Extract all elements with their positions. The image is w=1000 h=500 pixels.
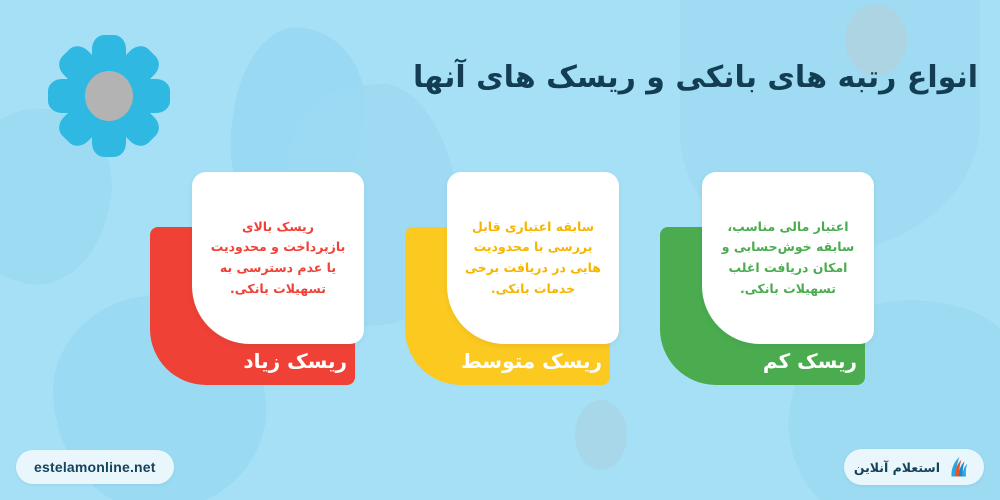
estelam-online-logo-icon <box>948 455 970 479</box>
risk-card-high: ریسک زیاد ریسک بالای بازپرداخت و محدودیت… <box>150 172 364 392</box>
risk-card-medium-body: سابقه اعتباری قابل بررسی با محدودیت هایی… <box>447 217 619 300</box>
flower-core <box>85 71 133 121</box>
brand-badge[interactable]: استعلام آنلاین <box>844 449 984 485</box>
risk-card-low-body: اعتبار مالی مناسب، سابقه خوش‌حسابی و امک… <box>702 217 874 300</box>
risk-cards-group: ریسک زیاد ریسک بالای بازپرداخت و محدودیت… <box>0 0 1000 500</box>
risk-card-medium-white-panel: سابقه اعتباری قابل بررسی با محدودیت هایی… <box>447 172 619 344</box>
risk-card-low: ریسک کم اعتبار مالی مناسب، سابقه خوش‌حسا… <box>660 172 874 392</box>
brand-badge-text: استعلام آنلاین <box>854 460 940 475</box>
risk-card-high-label: ریسک زیاد <box>157 349 347 373</box>
risk-card-medium-label: ریسک متوسط <box>412 349 602 373</box>
infographic-canvas: انواع رتبه های بانکی و ریسک های آنها ریس… <box>0 0 1000 500</box>
website-badge[interactable]: estelamonline.net <box>16 450 174 484</box>
risk-card-low-white-panel: اعتبار مالی مناسب، سابقه خوش‌حسابی و امک… <box>702 172 874 344</box>
risk-card-high-body: ریسک بالای بازپرداخت و محدودیت یا عدم دس… <box>192 217 364 300</box>
website-badge-text: estelamonline.net <box>34 459 156 475</box>
risk-card-high-white-panel: ریسک بالای بازپرداخت و محدودیت یا عدم دس… <box>192 172 364 344</box>
risk-card-low-label: ریسک کم <box>667 349 857 373</box>
risk-card-medium: ریسک متوسط سابقه اعتباری قابل بررسی با م… <box>405 172 619 392</box>
